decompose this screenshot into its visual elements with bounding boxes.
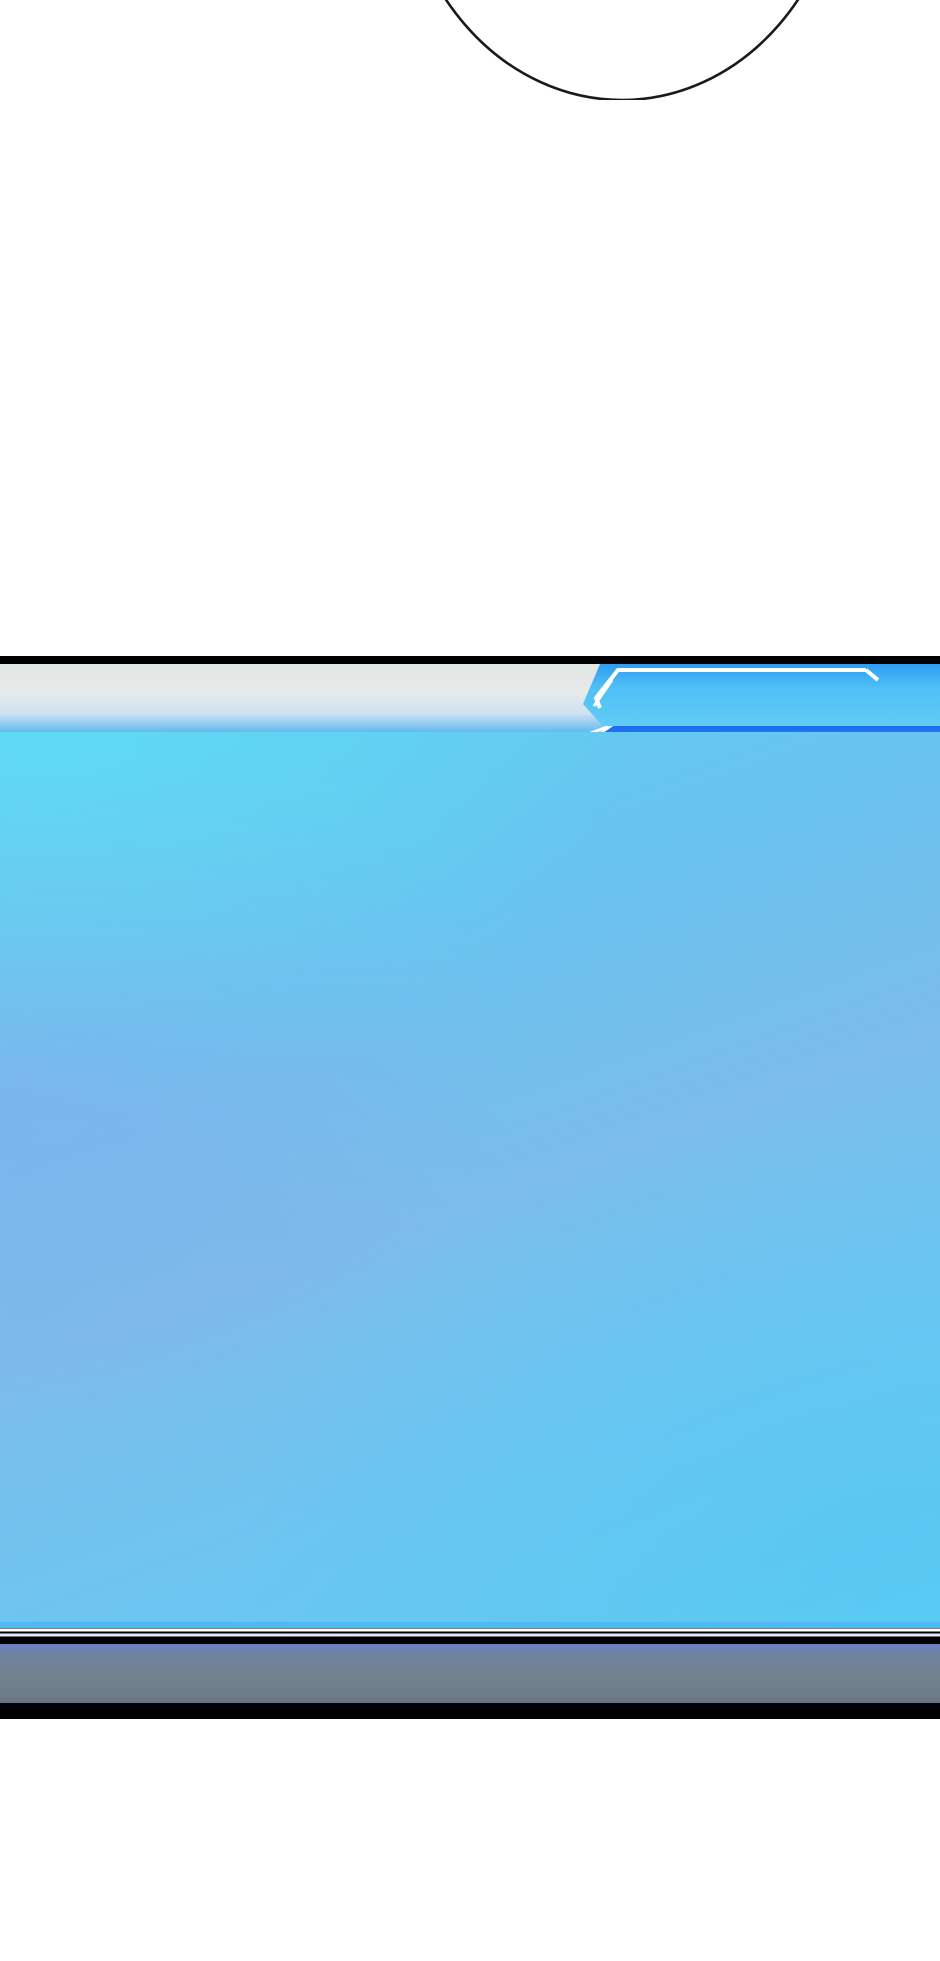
comic-page: [Martial Prowess of Grandel, Knight of 1… — [0, 0, 940, 1961]
window-footer-plate — [0, 1644, 940, 1710]
ink-arc-icon — [0, 0, 940, 100]
lower-blank-area — [0, 1719, 940, 1961]
upper-blank-area — [0, 0, 940, 656]
chrome-tab-shape — [0, 664, 940, 732]
window-body — [0, 732, 940, 1622]
system-window-panel: [Martial Prowess of Grandel, Knight of 1… — [0, 656, 940, 1719]
